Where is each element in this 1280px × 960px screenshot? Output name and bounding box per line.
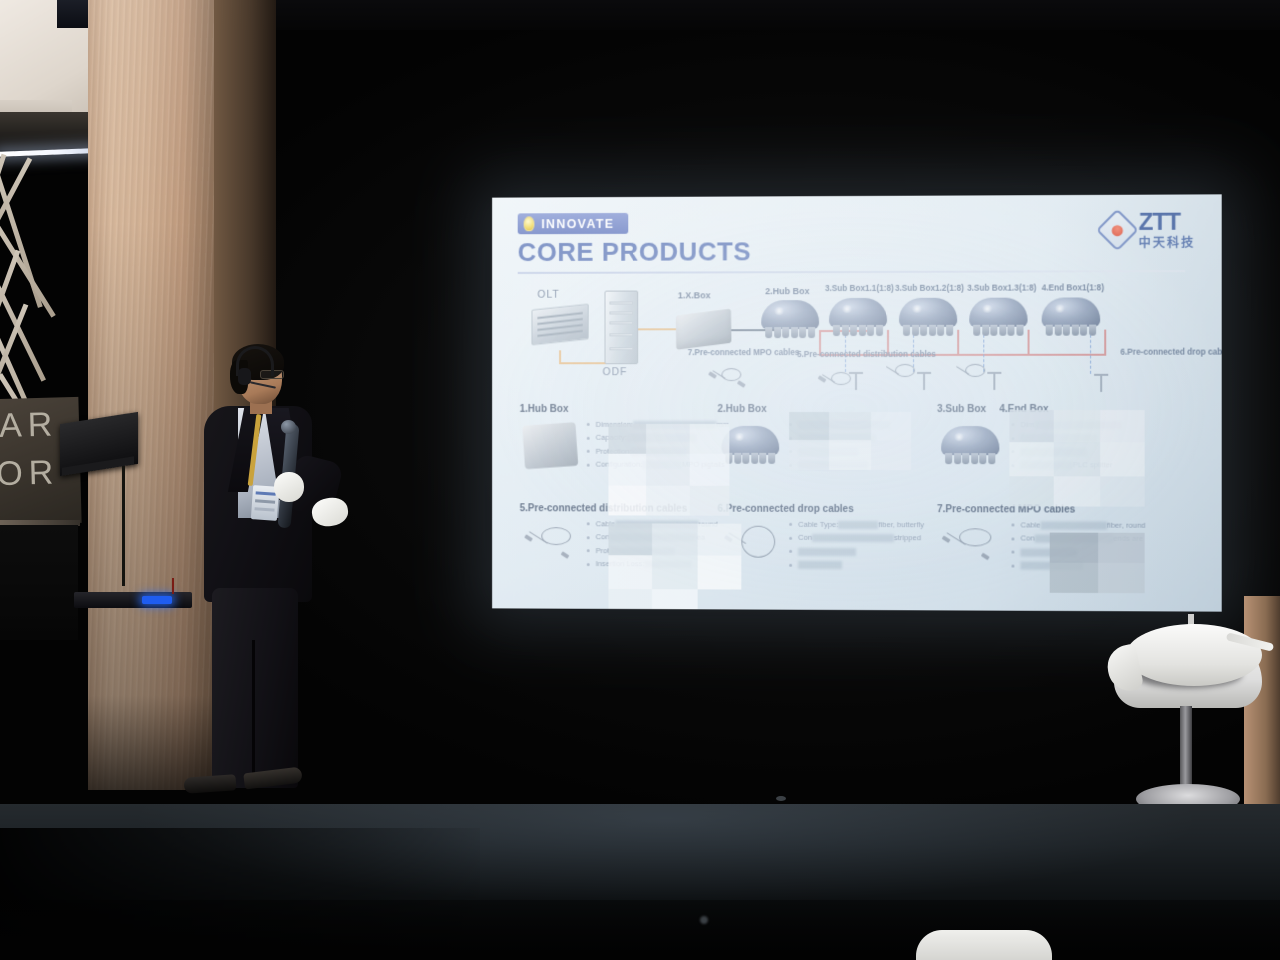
- venue-sign-line-2: OR: [0, 453, 60, 494]
- ztt-diamond-icon: [1096, 209, 1139, 252]
- sub-box-2-icon: [899, 298, 957, 338]
- olt-equipment-icon: [531, 304, 588, 346]
- stage-marker: [700, 916, 708, 924]
- odf-cabinet-icon: [605, 291, 639, 365]
- spec-bullet: Insertion Loss:: [587, 560, 718, 570]
- presenter-shoe-left: [184, 774, 237, 794]
- wire-endbox-riser: [1104, 330, 1106, 356]
- spec-bullet: Constripped: [789, 533, 924, 543]
- sub-box-3-icon: [969, 298, 1027, 338]
- stage-front-edge: [0, 900, 1280, 960]
- spec-bullet: Protection:: [587, 447, 729, 457]
- slide-title: CORE PRODUCTS: [518, 236, 752, 268]
- spec-heading-sub-box-3: 3.Sub Box: [937, 404, 986, 415]
- chair-seat: [1126, 624, 1262, 686]
- spec-heading-hub-box-1: 1.Hub Box: [520, 404, 569, 415]
- wire-sub3-riser: [1028, 330, 1030, 356]
- presenter-gloved-hand-left: [274, 472, 304, 502]
- spec-bullet: Cablefiber, round: [1011, 520, 1145, 530]
- floor-cable: [776, 796, 786, 801]
- projection-screen[interactable]: INNOVATE CORE PRODUCTS ZTT 中天科技: [492, 194, 1222, 611]
- slide-surface: INNOVATE CORE PRODUCTS ZTT 中天科技: [492, 194, 1222, 611]
- spec-heading-distribution-cables: 5.Pre-connected distribution cables: [520, 503, 688, 514]
- hub-box-icon: [761, 300, 819, 340]
- brand-name-cn: 中天科技: [1139, 237, 1196, 249]
- venue-sign-line-1: AR: [0, 405, 59, 446]
- spec-bullets-distribution-cables: Cableround Conea Prot Insertion Loss:: [587, 519, 718, 573]
- side-desk: [0, 525, 78, 640]
- spec-bullets-hub-box-1: Dimension:mm Capacity: Protection: Confi…: [587, 420, 729, 474]
- spec-heading-hub-box-2: 2.Hub Box: [717, 404, 766, 415]
- wire-bus-4: [1028, 354, 1107, 356]
- spec-bullet: [789, 560, 924, 570]
- spec-bullet: [1011, 547, 1145, 557]
- lightbulb-icon: [524, 216, 535, 231]
- spec-bullets-hub-box-2: [789, 420, 890, 474]
- node-label-sub-box-1: 3.Sub Box1.1(1:8): [825, 284, 894, 294]
- brand-logo: ZTT 中天科技: [1102, 211, 1195, 250]
- spec-bullets-drop-cables: Cable Type:fiber, butterfly Constripped: [789, 520, 924, 574]
- drop-pole-icon-2: [917, 372, 931, 390]
- presenter: [186, 340, 366, 810]
- spec-bullet: [1011, 434, 1120, 444]
- spec-bullet: [789, 547, 924, 557]
- node-label-olt: OLT: [537, 289, 559, 301]
- av-console: [74, 592, 192, 608]
- presenter-leg-gap: [252, 640, 255, 782]
- innovate-badge-label: INNOVATE: [541, 216, 614, 230]
- antenna-icon: [172, 578, 174, 594]
- spec-heading-drop-cables: 6.Pre-connected drop cables: [717, 504, 853, 515]
- spec-bullet: [1011, 447, 1120, 457]
- monitor-stand: [122, 466, 125, 586]
- brand-name-en: ZTT: [1139, 211, 1196, 235]
- node-label-odf: ODF: [603, 366, 628, 378]
- spec-bullet: [1011, 561, 1145, 571]
- node-label-sub-box-2: 3.Sub Box1.2(1:8): [895, 284, 964, 294]
- spec-bullet: Dim: [1011, 420, 1120, 430]
- spec-bullet: Cableround: [587, 519, 718, 529]
- sub-end-box-product-icon: [941, 426, 999, 466]
- presenter-trousers: [212, 588, 298, 788]
- decorative-lattice: [0, 152, 96, 418]
- wire-sub2-riser: [957, 330, 959, 356]
- node-label-xbox: 1.X.Box: [678, 290, 711, 300]
- spec-bullet: Prot: [587, 546, 718, 556]
- hub-box-2-product-icon: [721, 426, 779, 466]
- end-box-icon: [1042, 297, 1101, 337]
- spec-bullet: Conea: [587, 533, 718, 543]
- node-label-hub-box: 2.Hub Box: [765, 286, 809, 296]
- drop-pole-icon-3: [987, 372, 1001, 390]
- spec-bullet: PLC splitter: [1011, 461, 1120, 471]
- callout-drop-cables: 6.Pre-connected drop cables: [1120, 348, 1207, 358]
- audience-chair-back: [916, 930, 1052, 960]
- xbox-icon: [676, 309, 732, 350]
- drop-pole-icon-1: [849, 372, 863, 390]
- network-flow-diagram: OLT ODF 1.X.Box 2.Hub Box: [492, 283, 1222, 396]
- callout-distribution-cables: 5.Pre-connected distribution cables: [797, 350, 893, 360]
- spec-bullet: Configuration:MPO pigtails: [587, 460, 729, 470]
- spec-bullet: Dimension:mm: [587, 420, 729, 430]
- title-divider: [518, 270, 1185, 274]
- spec-bullet: Capacity:: [587, 433, 729, 443]
- status-led-indicator: [142, 596, 172, 604]
- callout-mpo-cables: 7.Pre-connected MPO cables: [688, 348, 777, 357]
- innovate-badge: INNOVATE: [518, 213, 629, 234]
- sub-box-1-icon: [829, 298, 887, 338]
- wall-shadow-band: [0, 112, 92, 150]
- chair-center-post: [1180, 706, 1192, 790]
- spec-bullet: Conends are: [1011, 534, 1145, 544]
- spec-bullet: [789, 420, 890, 430]
- drop-pole-icon-4: [1094, 374, 1108, 392]
- node-label-sub-box-3: 3.Sub Box1.3(1:8): [967, 284, 1036, 294]
- spec-heading-mpo-cables: 7.Pre-connected MPO cables: [937, 504, 1075, 515]
- spec-bullets-mpo-cables: Cablefiber, round Conends are: [1011, 520, 1145, 575]
- node-label-end-box: 4.End Box1(1:8): [1042, 283, 1104, 293]
- spec-bullet: [789, 460, 890, 470]
- wire-bus-3: [957, 354, 1029, 356]
- product-spec-grid: 1.Hub Box Dimension:mm Capacity: Protect…: [492, 404, 1222, 606]
- spec-bullet: Cable Type:fiber, butterfly: [789, 520, 924, 530]
- spec-heading-end-box-4: 4.End Box: [999, 404, 1048, 415]
- stage-scene: AR OR INNOVATE CORE PRODUCTS ZTT 中天科技: [0, 0, 1280, 960]
- spec-bullet: [789, 447, 890, 457]
- spec-bullets-end-box-4: Dim PLC splitter: [1011, 420, 1120, 474]
- hub-box-1-product-icon: [522, 422, 578, 469]
- microphone-head-icon: [281, 420, 296, 434]
- spec-bullet: [789, 433, 890, 443]
